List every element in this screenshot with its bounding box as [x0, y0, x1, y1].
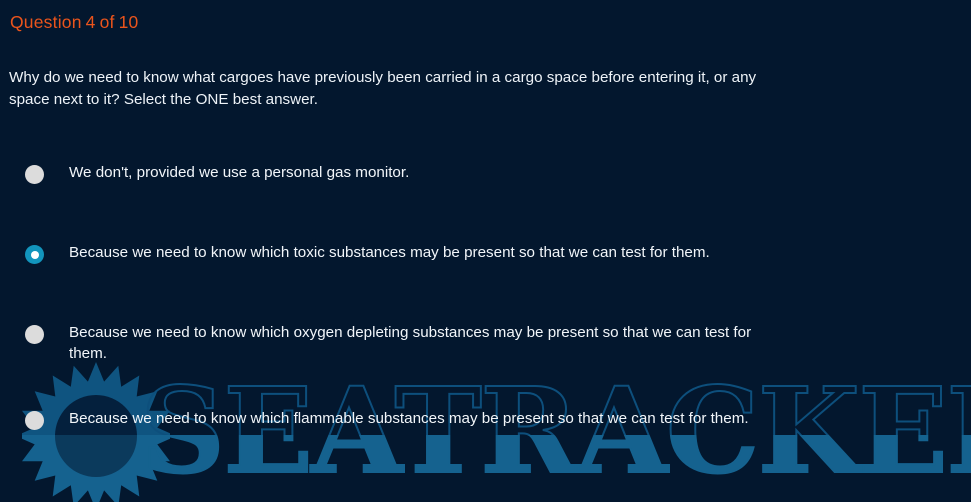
answer-option-b[interactable]: Because we need to know which toxic subs… [0, 230, 971, 278]
answer-option-a-label: We don't, provided we use a personal gas… [69, 163, 971, 184]
answer-options-list: We don't, provided we use a personal gas… [0, 150, 971, 444]
question-text: Why do we need to know what cargoes have… [9, 67, 764, 111]
answer-option-d-label: Because we need to know which flammable … [69, 409, 971, 430]
radio-button-a[interactable] [25, 165, 44, 184]
answer-option-d[interactable]: Because we need to know which flammable … [0, 396, 971, 444]
sunburst-star-icon-lower [22, 435, 170, 502]
answer-option-c-label: Because we need to know which oxygen dep… [69, 323, 971, 364]
question-counter: Question4of10 [10, 12, 142, 33]
watermark-band-bottom: SEATRACKER.RU [0, 435, 971, 502]
quiz-question-screen: SEATRACKER.RU SEATRACKER.RU Question4of1… [0, 0, 971, 502]
answer-option-c[interactable]: Because we need to know which oxygen dep… [0, 310, 971, 364]
question-counter-total: 10 [119, 12, 139, 32]
question-counter-current: 4 [86, 12, 96, 32]
question-counter-separator: of [100, 12, 115, 32]
radio-button-c[interactable] [25, 325, 44, 344]
radio-button-b-selected[interactable] [25, 245, 44, 264]
answer-option-b-label: Because we need to know which toxic subs… [69, 243, 971, 264]
radio-button-d[interactable] [25, 411, 44, 430]
question-counter-label: Question [10, 12, 82, 32]
answer-option-a[interactable]: We don't, provided we use a personal gas… [0, 150, 971, 198]
